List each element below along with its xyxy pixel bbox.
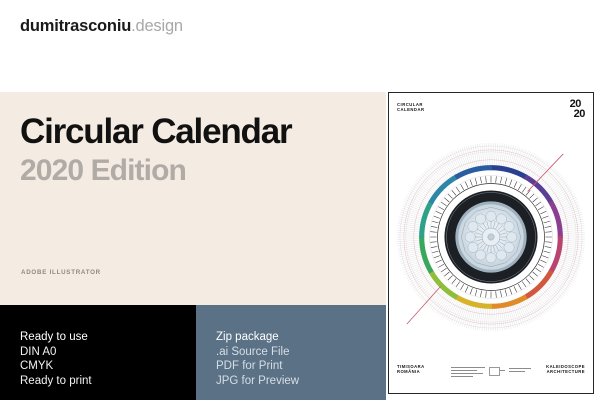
poster-year-bottom: 20 <box>570 110 585 120</box>
list-item: Ready to print <box>20 374 92 389</box>
list-item: PDF for Print <box>216 359 299 374</box>
poster-header-label: CIRCULAR CALENDAR <box>397 102 425 113</box>
list-item: JPG for Preview <box>216 374 299 389</box>
features-list: Ready to use DIN A0 CMYK Ready to print <box>20 330 92 388</box>
list-item: Zip package <box>216 330 299 345</box>
deliverables-panel-slate: Zip package .ai Source File PDF for Prin… <box>196 305 386 400</box>
list-item: DIN A0 <box>20 345 92 360</box>
software-label: ADOBE ILLUSTRATOR <box>21 270 101 276</box>
rosette-svg <box>389 129 593 345</box>
header-bar: dumitrasconiu.design <box>0 0 386 92</box>
features-panel-dark: Ready to use DIN A0 CMYK Ready to print <box>0 305 196 400</box>
poster-studio-line2: ARCHITECTURE <box>546 369 585 374</box>
poster-location-label: TIMISOARA ROMÂNIA <box>397 364 425 375</box>
poster-year-label: 20 20 <box>570 100 585 119</box>
poster-microtext-block <box>451 365 531 381</box>
brand-logo[interactable]: dumitrasconiu.design <box>20 18 183 35</box>
list-item: .ai Source File <box>216 345 299 360</box>
poster-footer: TIMISOARA ROMÂNIA KALEIDOSCOPE ARCHITECT… <box>389 364 593 384</box>
page-subtitle: 2020 Edition <box>20 156 186 186</box>
brand-name: dumitrasconiu <box>20 17 131 35</box>
page-title: Circular Calendar <box>20 114 291 149</box>
circular-calendar-graphic <box>389 129 593 345</box>
poster-studio-label: KALEIDOSCOPE ARCHITECTURE <box>546 364 585 375</box>
poster-thumbnail[interactable]: CIRCULAR CALENDAR 20 20 <box>388 92 594 394</box>
title-block: Circular Calendar 2020 Edition ADOBE ILL… <box>0 92 386 305</box>
list-item: Ready to use <box>20 330 92 345</box>
poster-preview-area: CIRCULAR CALENDAR 20 20 <box>386 0 600 400</box>
poster-header-line2: CALENDAR <box>397 107 425 112</box>
deliverables-list: Zip package .ai Source File PDF for Prin… <box>216 330 299 388</box>
promo-screenshot: dumitrasconiu.design Circular Calendar 2… <box>0 0 600 400</box>
poster-country: ROMÂNIA <box>397 369 425 374</box>
list-item: CMYK <box>20 359 92 374</box>
brand-suffix: .design <box>131 17 183 35</box>
